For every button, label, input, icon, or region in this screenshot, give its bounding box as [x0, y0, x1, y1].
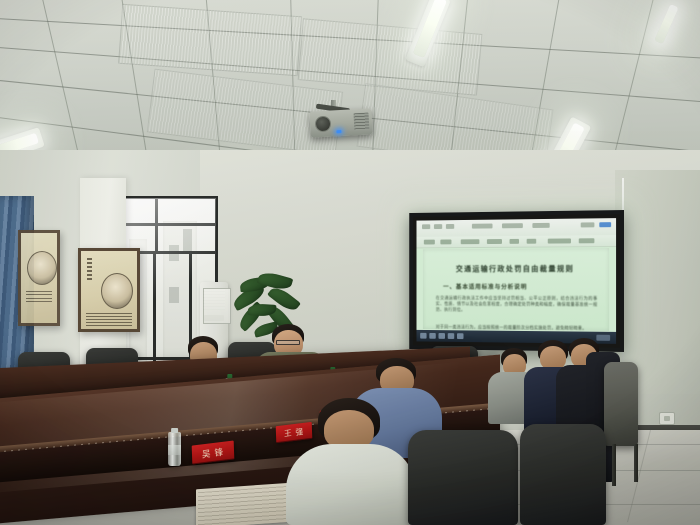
projector-lens [315, 116, 332, 133]
wall-poster-portrait-main [78, 248, 140, 332]
chair-right-gray[interactable] [604, 362, 638, 446]
projection-screen[interactable]: 交通运输行政处罚自由裁量规则 一、基本适用标准与分析说明 在交通运输行政执法工作… [409, 210, 624, 352]
chair-leg [634, 444, 638, 482]
wall-poster-portrait-secondary [18, 230, 60, 326]
chair-leg [612, 444, 616, 486]
conference-room-photo: 交通运输行政处罚自由裁量规则 一、基本适用标准与分析说明 在交通运输行政执法工作… [0, 0, 700, 525]
projector-vent [354, 113, 370, 131]
document-heading: 一、基本适用标准与分析说明 [443, 282, 527, 291]
small-wall-board [203, 288, 231, 324]
water-bottle-3[interactable] [168, 432, 181, 466]
projector [309, 108, 372, 137]
projector-power-led [336, 130, 341, 133]
document-title: 交通运输行政处罚自由裁量规则 [423, 263, 609, 274]
glasses [276, 340, 300, 345]
document-paragraph-1: 在交通运输行政执法工作中应当坚持过罚相当、公平公正原则，结合违法行为的事实、性质… [436, 295, 598, 314]
projection-screen-surface: 交通运输行政处罚自由裁量规则 一、基本适用标准与分析说明 在交通运输行政执法工作… [417, 218, 617, 344]
document-page: 交通运输行政处罚自由裁量规则 一、基本适用标准与分析说明 在交通运输行政执法工作… [423, 248, 609, 331]
torso [286, 444, 416, 525]
chair-front-right[interactable] [408, 430, 518, 525]
document-ribbon [417, 235, 617, 248]
chair-mid-right[interactable] [520, 424, 606, 525]
person-front-white-shirt [286, 398, 416, 525]
notebook-front [196, 483, 292, 525]
wall-outlet[interactable] [659, 412, 675, 425]
